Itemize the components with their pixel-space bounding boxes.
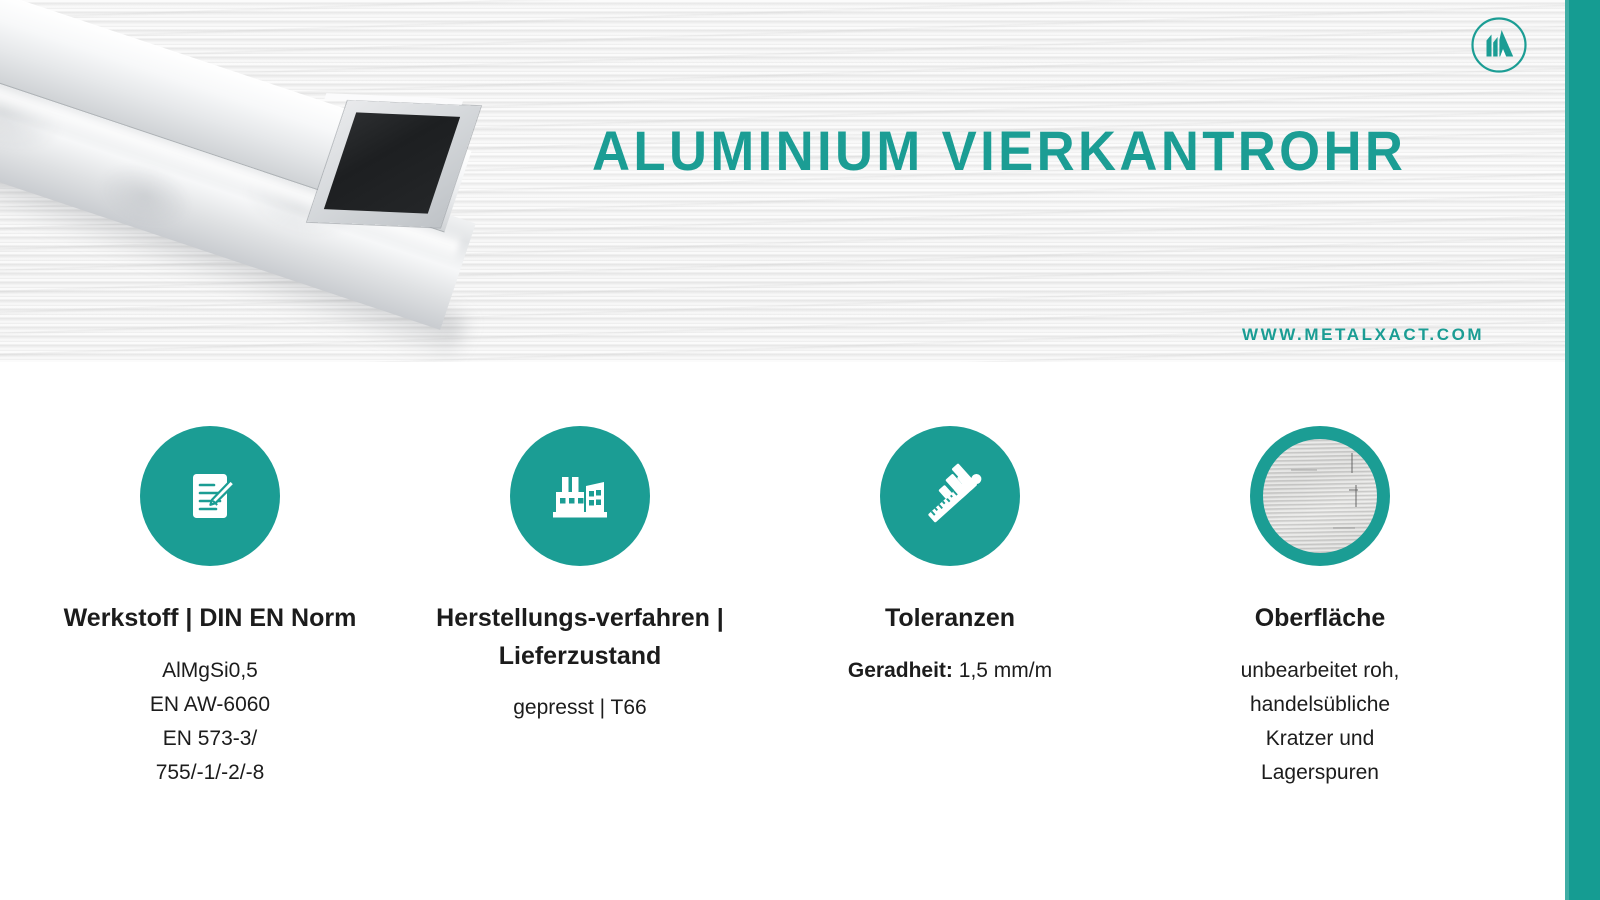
feature-line: EN AW-6060 [150,688,270,722]
surface-scratch [1333,527,1355,529]
feature-value: 1,5 mm/m [959,659,1052,682]
feature-body: Geradheit: 1,5 mm/m [830,654,1070,688]
feature-line: AlMgSi0,5 [150,654,270,688]
feature-line: Kratzer und [1241,722,1400,756]
logo-mountain-glyph [1487,30,1514,57]
feature-line: Geradheit: 1,5 mm/m [848,654,1052,688]
feature-body: unbearbeitet roh, handelsübliche Kratzer… [1223,654,1418,791]
feature-value-label: Geradheit: [848,659,953,682]
feature-column-werkstoff: Werkstoff | DIN EN Norm AlMgSi0,5 EN AW-… [25,426,395,790]
product-image-aluminium-square-tube [0,0,570,360]
website-url[interactable]: WWW.METALXACT.COM [1242,325,1484,345]
factory-icon [510,426,650,566]
feature-heading: Werkstoff | DIN EN Norm [50,600,371,638]
brushed-surface-icon [1250,426,1390,566]
metalxact-logo[interactable] [1470,16,1528,74]
brushed-surface-texture [1263,439,1377,553]
right-accent-bar [1565,0,1600,900]
hero-section: ALUMINIUM VIERKANTROHR WWW.METALXACT.COM [0,0,1565,362]
feature-line: unbearbeitet roh, [1241,654,1400,688]
page-title: ALUMINIUM VIERKANTROHR [592,118,1406,183]
feature-heading: Toleranzen [871,600,1029,638]
poster-page: ALUMINIUM VIERKANTROHR WWW.METALXACT.COM [0,0,1600,900]
feature-column-herstellungsverfahren: Herstellungs-verfahren | Lieferzustand g… [395,426,765,725]
feature-line: handelsübliche [1241,688,1400,722]
feature-line: EN 573-3/ [150,722,270,756]
feature-line: Lagerspuren [1241,756,1400,790]
feature-heading: Oberfläche [1241,600,1400,638]
feature-body: AlMgSi0,5 EN AW-6060 EN 573-3/ 755/-1/-2… [132,654,288,791]
surface-scratch [1291,469,1317,471]
feature-column-toleranzen: Toleranzen Geradheit: 1,5 mm/m [765,426,1135,688]
caliper-icon [880,426,1020,566]
right-accent-bar-edge [1565,0,1569,900]
surface-scratch [1349,489,1358,491]
feature-heading: Herstellungs-verfahren | Lieferzustand [395,600,765,675]
document-pencil-icon [140,426,280,566]
surface-scratch [1351,453,1353,473]
feature-columns: Werkstoff | DIN EN Norm AlMgSi0,5 EN AW-… [0,362,1565,900]
feature-body: gepresst | T66 [495,691,664,725]
logo-ring [1473,19,1526,72]
feature-line: 755/-1/-2/-8 [150,756,270,790]
feature-line: gepresst | T66 [513,691,646,725]
feature-column-oberflaeche: Oberfläche unbearbeitet roh, handelsübli… [1135,426,1505,790]
